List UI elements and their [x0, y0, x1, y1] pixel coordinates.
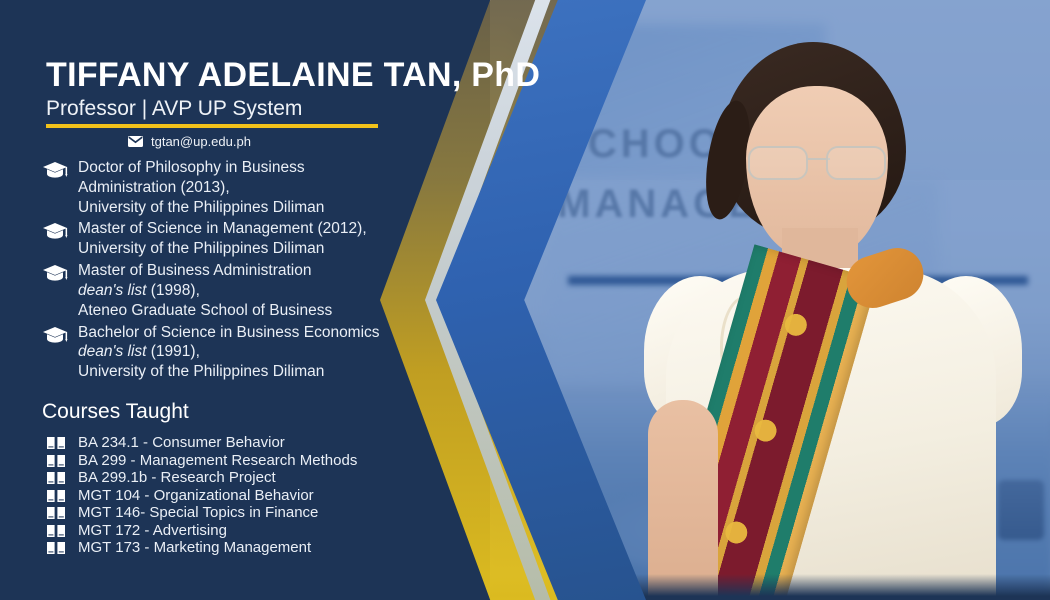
course-name: MGT 172 - Advertising	[78, 522, 227, 539]
person-figure	[570, 0, 1050, 600]
education-degree: Doctor of Philosophy in Business	[78, 158, 324, 178]
info-column: TIFFANY ADELAINE TAN, PhD Professor | AV…	[0, 0, 470, 600]
list-item: MGT 146- Special Topics in Finance	[46, 504, 466, 522]
list-item: MGT 173 - Marketing Management	[46, 539, 466, 557]
graduation-cap-icon	[42, 161, 68, 179]
education-honors: dean's list	[78, 282, 146, 299]
list-item: MGT 172 - Advertising	[46, 522, 466, 540]
list-item: BA 299 - Management Research Methods	[46, 452, 466, 470]
education-institution: University of the Philippines Diliman	[78, 198, 324, 218]
education-item: Master of Science in Management (2012), …	[42, 219, 462, 259]
course-name: MGT 104 - Organizational Behavior	[78, 487, 314, 504]
course-name: BA 299 - Management Research Methods	[78, 452, 357, 469]
profile-card: SCHOOL MANAGEMENT T	[0, 0, 1050, 600]
open-book-icon	[46, 540, 68, 555]
education-honors: dean's list	[78, 343, 146, 360]
education-item: Doctor of Philosophy in Business Adminis…	[42, 158, 462, 217]
education-degree: Bachelor of Science in Business Economic…	[78, 323, 380, 343]
education-degree: Master of Business Administration	[78, 261, 332, 281]
course-name: MGT 146- Special Topics in Finance	[78, 504, 318, 521]
education-honors-line: dean's list (1998),	[78, 281, 332, 301]
education-item: Master of Business Administration dean's…	[42, 261, 462, 320]
education-honors-year: (1998),	[146, 282, 199, 299]
gold-divider	[46, 124, 378, 128]
course-name: BA 234.1 - Consumer Behavior	[78, 434, 285, 451]
education-list: Doctor of Philosophy in Business Adminis…	[42, 158, 462, 384]
course-name: BA 299.1b - Research Project	[78, 469, 276, 486]
course-name: MGT 173 - Marketing Management	[78, 539, 311, 556]
email-row[interactable]: tgtan@up.edu.ph	[128, 134, 251, 149]
role-subtitle: Professor | AVP UP System	[46, 97, 302, 121]
page-title: TIFFANY ADELAINE TAN, PhD	[46, 56, 540, 95]
education-institution: Ateneo Graduate School of Business	[78, 301, 332, 321]
open-book-icon	[46, 453, 68, 468]
person-arm	[648, 400, 718, 600]
education-item: Bachelor of Science in Business Economic…	[42, 323, 462, 382]
education-institution: University of the Philippines Diliman	[78, 239, 367, 259]
courses-list: BA 234.1 - Consumer Behavior BA 299 - Ma…	[46, 434, 466, 557]
graduation-cap-icon	[42, 326, 68, 344]
list-item: MGT 104 - Organizational Behavior	[46, 487, 466, 505]
eyeglasses-icon	[746, 146, 888, 180]
email-address[interactable]: tgtan@up.edu.ph	[151, 134, 251, 149]
graduation-cap-icon	[42, 222, 68, 240]
graduation-cap-icon	[42, 264, 68, 282]
list-item: BA 299.1b - Research Project	[46, 469, 466, 487]
education-honors-year: (1991),	[146, 343, 199, 360]
list-item: BA 234.1 - Consumer Behavior	[46, 434, 466, 452]
open-book-icon	[46, 505, 68, 520]
open-book-icon	[46, 488, 68, 503]
education-degree: Master of Science in Management (2012),	[78, 219, 367, 239]
open-book-icon	[46, 435, 68, 450]
open-book-icon	[46, 523, 68, 538]
envelope-icon	[128, 136, 143, 147]
education-institution: University of the Philippines Diliman	[78, 362, 380, 382]
courses-heading: Courses Taught	[42, 400, 189, 424]
open-book-icon	[46, 470, 68, 485]
education-degree-line2: Administration (2013),	[78, 178, 324, 198]
education-honors-line: dean's list (1991),	[78, 342, 380, 362]
